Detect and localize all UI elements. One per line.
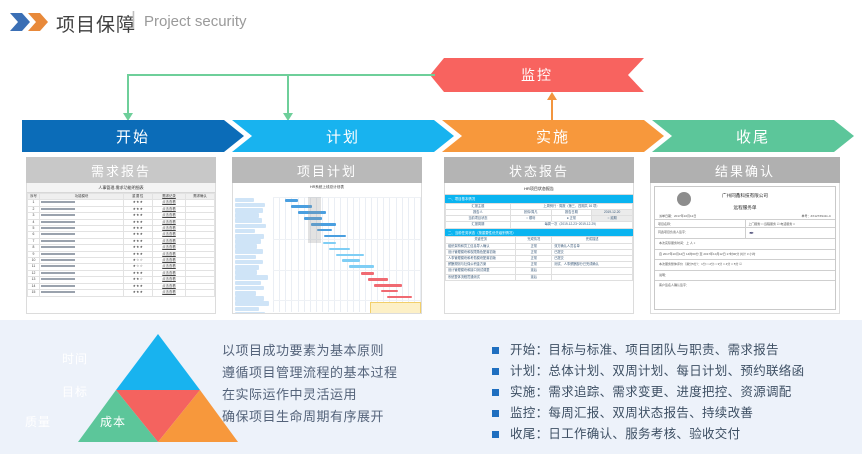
table-row: 15★★★点击查看	[28, 290, 215, 296]
gantt-gridline	[291, 197, 292, 312]
card-body-requirements: 人事管理-需求功能明细表 序号 功能模块 重要性 需求记录 需求确认 1★★★点…	[26, 183, 216, 314]
table-row: 汇报周期每周一次（2019-12-23~2019-12-29）	[446, 222, 633, 228]
flow-stage-monitor-label: 监控	[521, 65, 553, 85]
status-report-title: HR项目状态报告	[445, 183, 633, 195]
document-card-plan[interactable]: 项目计划 HR系统上线总计划表	[232, 157, 422, 314]
flow-stage-plan-label: 计划	[326, 126, 360, 147]
gantt-gridline	[396, 197, 397, 312]
connector-line-horizontal	[127, 74, 435, 76]
gantt-task-label	[235, 291, 256, 296]
card-title-requirements: 需求报告	[26, 157, 216, 183]
gantt-task-label	[235, 229, 255, 234]
gantt-phase-divider	[273, 270, 420, 271]
gantt-gridline	[383, 197, 384, 312]
page-header: 项目保障 | Project security	[0, 0, 862, 44]
service-mode-field: 上门服务 □ 远程服务 ☑ 电话服务 □	[746, 220, 836, 227]
dispatch-date: 派单日期：2017年10月12日	[659, 214, 696, 218]
gantt-gridline	[298, 197, 299, 312]
gantt-phase-divider	[273, 239, 420, 240]
cell-desc	[552, 274, 633, 280]
gantt-gridline	[414, 197, 415, 312]
cell-record-link[interactable]: 点击查看	[153, 290, 186, 296]
gantt-title: HR系统上线总计划表	[233, 183, 421, 191]
gantt-chart-grid	[273, 197, 420, 312]
flow-stage-close-label: 收尾	[736, 126, 770, 147]
triangle-label-quality: 质量	[25, 413, 51, 430]
gantt-task-label	[235, 312, 265, 314]
cell-no: 15	[28, 290, 40, 296]
gantt-task-label	[235, 270, 257, 275]
bullet-square-icon	[492, 431, 499, 438]
gantt-gridline	[328, 197, 329, 312]
gantt-task-list	[234, 197, 274, 312]
deliverables-list: 开始：目标与标准、项目团队与职责、需求报告 计划：总体计划、双周计划、每日计划、…	[492, 340, 852, 445]
list-item: 实施：需求追踪、需求变更、进度把控、资源调配	[492, 382, 852, 403]
gantt-task-label	[235, 198, 254, 203]
list-item: 监控：每周汇报、双周状态报告、持续改善	[492, 403, 852, 424]
summary-panel: 时间 目标 质量 成本 以项目成功要素为基本原则 遵循项目管理流程的基本过程 在…	[0, 320, 862, 454]
gantt-task-label	[235, 281, 261, 286]
gantt-task-label	[235, 301, 269, 306]
flow-stage-execute[interactable]: 实施	[442, 120, 664, 152]
card-title-status: 状态报告	[444, 157, 634, 183]
company-logo-icon	[677, 192, 691, 206]
status-task-table: 关键任务完成情况完成描述组织架构和员工信息导入确认正常双方确认人员名单设计管理模…	[445, 236, 633, 280]
gantt-gridline	[377, 197, 378, 312]
confirm-sign-line: 客户签名人确认签字：	[655, 280, 835, 290]
triangle-label-time: 时间	[62, 350, 88, 367]
table-row: 系统整体流程贯通测试延后	[446, 274, 633, 280]
list-item: 开始：目标与标准、项目团队与职责、需求报告	[492, 340, 852, 361]
gantt-task-label	[235, 296, 264, 301]
list-item-label: 监控：每周汇报、双周状态报告、持续改善	[510, 403, 753, 424]
flow-stage-close[interactable]: 收尾	[652, 120, 854, 152]
gantt-phase-divider	[273, 197, 420, 198]
principle-line: 以项目成功要素为基本原则	[222, 340, 472, 362]
title-separator: |	[131, 9, 136, 31]
gantt-bar	[349, 265, 374, 268]
gantt-bar	[374, 284, 402, 287]
connector-arrow-plan-icon	[283, 113, 293, 121]
gantt-bar	[342, 259, 360, 262]
gantt-bar	[387, 296, 412, 299]
bullet-square-icon	[492, 389, 499, 396]
process-flow-section: 监控 开始 计划 实施 收尾 需求报告 人事管理-需求功能明细表 序号 功能模块…	[0, 44, 862, 320]
gantt-bar	[285, 199, 298, 202]
gantt-gridline	[420, 197, 421, 312]
card-body-status: HR项目状态报告 一、项目基本情况 汇报主题上周例行 · 周报（第三、四期共 1…	[444, 183, 634, 314]
gantt-gridline	[285, 197, 286, 312]
connector-arrow-start-icon	[123, 113, 133, 121]
page-title: 项目保障	[56, 10, 136, 37]
bullet-square-icon	[492, 347, 499, 354]
gantt-gridline	[408, 197, 409, 312]
list-item: 收尾：日工作确认、服务考核、验收交付	[492, 424, 852, 445]
service-time-detail: 自 2017年10月12日 14时00分 至 2017年10月12日 17时00…	[655, 249, 835, 259]
cell-priority: ★★★	[124, 290, 153, 296]
status-section-band-1: 一、项目基本情况	[445, 195, 633, 203]
card-body-confirmation: 广州同鑫科技有限公司 远程服务单 派单日期：2017年10月12日 单号：ZX1…	[650, 183, 840, 314]
gantt-gridline	[365, 197, 366, 312]
list-item: 计划：总体计划、双周计划、每日计划、预约联络函	[492, 361, 852, 382]
manager-sign-field: 同鑫项目负责人签字：	[655, 228, 746, 238]
project-name-field: 项目名称：	[655, 220, 746, 227]
flow-stage-start[interactable]: 开始	[22, 120, 244, 152]
flow-stage-execute-label: 实施	[536, 126, 570, 147]
cell-task: 系统整体流程贯通测试	[446, 274, 516, 280]
cell-confirm	[186, 290, 215, 296]
gantt-task-label	[235, 208, 263, 213]
list-item-label: 实施：需求追踪、需求变更、进度把控、资源调配	[510, 382, 792, 403]
rating-line: 本次服务整体评价（满分5分）：1分 □ 2分 □ 3分 □ 4分 □ 5分 ☑	[655, 259, 835, 269]
page-subtitle: Project security	[144, 13, 247, 30]
gantt-bar	[336, 254, 364, 257]
status-section-band-2: 二、当前任务状态（按重要性优先级别情况）	[445, 229, 633, 237]
gantt-bar	[324, 235, 346, 238]
triangle-label-goal: 目标	[62, 383, 88, 400]
order-code: 单号：ZX12TZ9411-C	[802, 214, 831, 218]
gantt-task-label	[235, 224, 266, 229]
service-time-line: 本次实际服务时间：上 人 ×	[655, 238, 835, 248]
gantt-task-label	[235, 239, 261, 244]
gantt-task-label	[235, 244, 257, 249]
flow-stage-plan[interactable]: 计划	[232, 120, 454, 152]
gantt-task-label	[235, 249, 263, 254]
connector-line-to-start	[127, 74, 129, 116]
gantt-task-label	[235, 307, 259, 312]
gantt-task-label	[235, 234, 264, 239]
gantt-bar	[323, 242, 336, 245]
triangle-label-cost: 成本	[100, 413, 126, 430]
gantt-gridline	[304, 197, 305, 312]
cell-value: 每周一次（2019-12-23~2019-12-29）	[510, 222, 632, 228]
gantt-gridline	[389, 197, 390, 312]
document-card-status[interactable]: 状态报告 HR项目状态报告 一、项目基本情况 汇报主题上周例行 · 周报（第三、…	[444, 157, 634, 314]
list-item-label: 开始：目标与标准、项目团队与职责、需求报告	[510, 340, 779, 361]
gantt-bar	[368, 278, 389, 281]
double-chevron-icon	[8, 11, 52, 33]
triangle-segment-time	[116, 334, 200, 390]
list-item-label: 计划：总体计划、双周计划、每日计划、预约联络函	[510, 361, 804, 382]
flow-stage-monitor[interactable]: 监控	[430, 58, 644, 92]
remark-line: 说明：	[655, 270, 835, 280]
monitor-feed-arrow-icon	[547, 92, 557, 100]
principle-line: 遵循项目管理流程的基本过程	[222, 362, 472, 384]
list-item-label: 收尾：日工作确认、服务考核、验收交付	[510, 424, 740, 445]
gantt-task-label	[235, 203, 265, 208]
card-body-plan: HR系统上线总计划表	[232, 183, 422, 314]
gantt-gridline	[402, 197, 403, 312]
gantt-gridline	[279, 197, 280, 312]
monitor-feed-line	[551, 100, 553, 122]
gantt-gridline	[322, 197, 323, 312]
gantt-task-label	[235, 260, 263, 265]
connector-line-to-plan	[287, 74, 289, 116]
gantt-task-label	[235, 286, 264, 291]
requirements-table-title: 人事管理-需求功能明细表	[27, 183, 215, 193]
card-title-plan: 项目计划	[232, 157, 422, 183]
requirements-table: 序号 功能模块 重要性 需求记录 需求确认 1★★★点击查看2★★★点击查看3★…	[27, 193, 215, 297]
gantt-gridline	[273, 197, 274, 312]
cell-label: 汇报周期	[446, 222, 511, 228]
cell-module	[40, 290, 124, 296]
gantt-milestone-block	[370, 302, 421, 314]
document-card-confirmation[interactable]: 结果确认 广州同鑫科技有限公司 远程服务单 派单日期：2017年10月12日 单…	[650, 157, 840, 314]
gantt-task-label	[235, 265, 259, 270]
gantt-task-label	[235, 255, 256, 260]
bullet-square-icon	[492, 368, 499, 375]
gantt-phase-divider	[273, 300, 420, 301]
gantt-task-label	[235, 218, 262, 223]
signature-mark: ✒︎	[749, 230, 754, 237]
gantt-bar	[329, 248, 350, 251]
principles-text-block: 以项目成功要素为基本原则 遵循项目管理流程的基本过程 在实际运作中灵活运用 确保…	[222, 340, 472, 428]
cell-status: 延后	[516, 274, 552, 280]
customer-sign-field: ✒︎	[746, 228, 836, 238]
principle-line: 在实际运作中灵活运用	[222, 384, 472, 406]
gantt-gridline	[371, 197, 372, 312]
status-info-table: 汇报主题上周例行 · 周报（第三、四期共 16 项）报告人张伟/周凡报告日期20…	[445, 203, 633, 229]
gantt-task-label	[235, 275, 268, 280]
flow-stage-start-label: 开始	[116, 126, 150, 147]
principle-line: 确保项目生命周期有序展开	[222, 406, 472, 428]
gantt-task-label	[235, 213, 259, 218]
gantt-current-period-highlight	[308, 197, 321, 243]
gantt-bar	[361, 272, 374, 275]
document-card-requirements[interactable]: 需求报告 人事管理-需求功能明细表 序号 功能模块 重要性 需求记录 需求确认 …	[26, 157, 216, 314]
bullet-square-icon	[492, 410, 499, 417]
card-title-confirmation: 结果确认	[650, 157, 840, 183]
